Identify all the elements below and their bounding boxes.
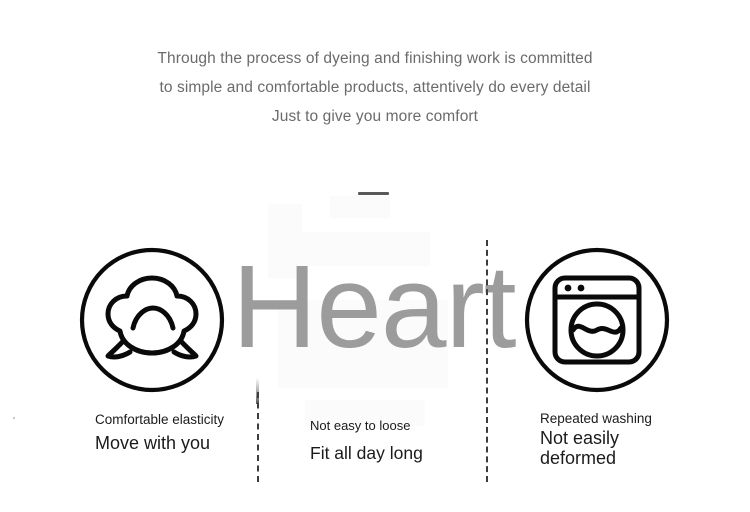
watermark-heart: Heart [232,248,516,366]
washing-machine-icon [523,246,671,394]
column-divider-right [486,240,488,482]
header-tagline: Through the process of dyeing and finish… [0,44,750,131]
header-tagline-line-3: Just to give you more comfort [0,102,750,131]
feature-text-not-easy-to-loose: Not easy to loose Fit all day long [310,418,475,464]
header-tagline-line-2: to simple and comfortable products, atte… [0,73,750,102]
feature-text-comfortable-elasticity: Comfortable elasticity Move with you [95,412,245,454]
product-feature-banner: Through the process of dyeing and finish… [0,0,750,512]
section-divider-rule [358,192,389,195]
header-tagline-line-1: Through the process of dyeing and finish… [0,44,750,73]
column-divider-left [257,392,259,482]
feature-big-text: Not easily deformed [540,428,652,468]
feature-text-repeated-washing: Repeated washing Not easily deformed [540,412,652,468]
image-artifact-speck [13,417,15,419]
background-ghost-block [330,196,390,218]
feature-big-text: Move with you [95,433,245,454]
feature-small-text: Repeated washing [540,412,652,426]
feature-small-text: Comfortable elasticity [95,412,245,427]
feature-small-text: Not easy to loose [310,418,475,433]
cotton-boll-icon [78,246,226,394]
feature-big-text: Fit all day long [310,443,475,464]
